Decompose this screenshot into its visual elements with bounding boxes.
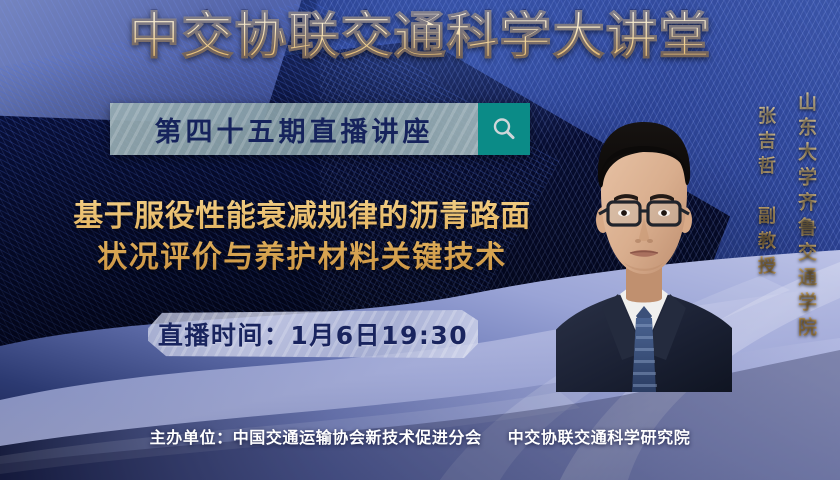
page-title: 中交协联交通科学大讲堂 <box>0 10 840 63</box>
speaker-photo <box>556 92 732 392</box>
search-icon <box>490 115 518 143</box>
lecture-title: 基于服役性能衰减规律的沥青路面 状况评价与养护材料关键技术 <box>22 196 582 279</box>
speaker-portrait-graphic <box>556 92 732 392</box>
footer-organizers: 主办单位：中国交通运输协会新技术促进分会中交协联交通科学研究院 <box>0 424 840 448</box>
episode-label-box: 第四十五期直播讲座 <box>110 103 478 155</box>
footer-organizer-2: 中交协联交通科学研究院 <box>508 428 691 447</box>
live-lecture-poster: 中交协联交通科学大讲堂 第四十五期直播讲座 基于服役性能衰减规律的沥青路面 状况… <box>0 0 840 480</box>
speaker-organization: 山东大学齐鲁交通学院 <box>793 92 820 342</box>
episode-banner: 第四十五期直播讲座 <box>110 103 530 155</box>
speaker-name-title: 张吉哲 副教授 <box>752 106 778 281</box>
footer-organizer-label: 主办单位： <box>150 428 233 447</box>
broadcast-time-text: 直播时间：1月6日19:30 <box>158 316 468 352</box>
search-button[interactable] <box>478 103 530 155</box>
broadcast-time-badge: 直播时间：1月6日19:30 <box>148 310 478 358</box>
footer-organizer-1: 中国交通运输协会新技术促进分会 <box>233 428 482 447</box>
lecture-title-line-2: 状况评价与养护材料关键技术 <box>22 237 582 278</box>
episode-label: 第四十五期直播讲座 <box>155 110 434 149</box>
lecture-title-line-1: 基于服役性能衰减规律的沥青路面 <box>73 199 531 234</box>
